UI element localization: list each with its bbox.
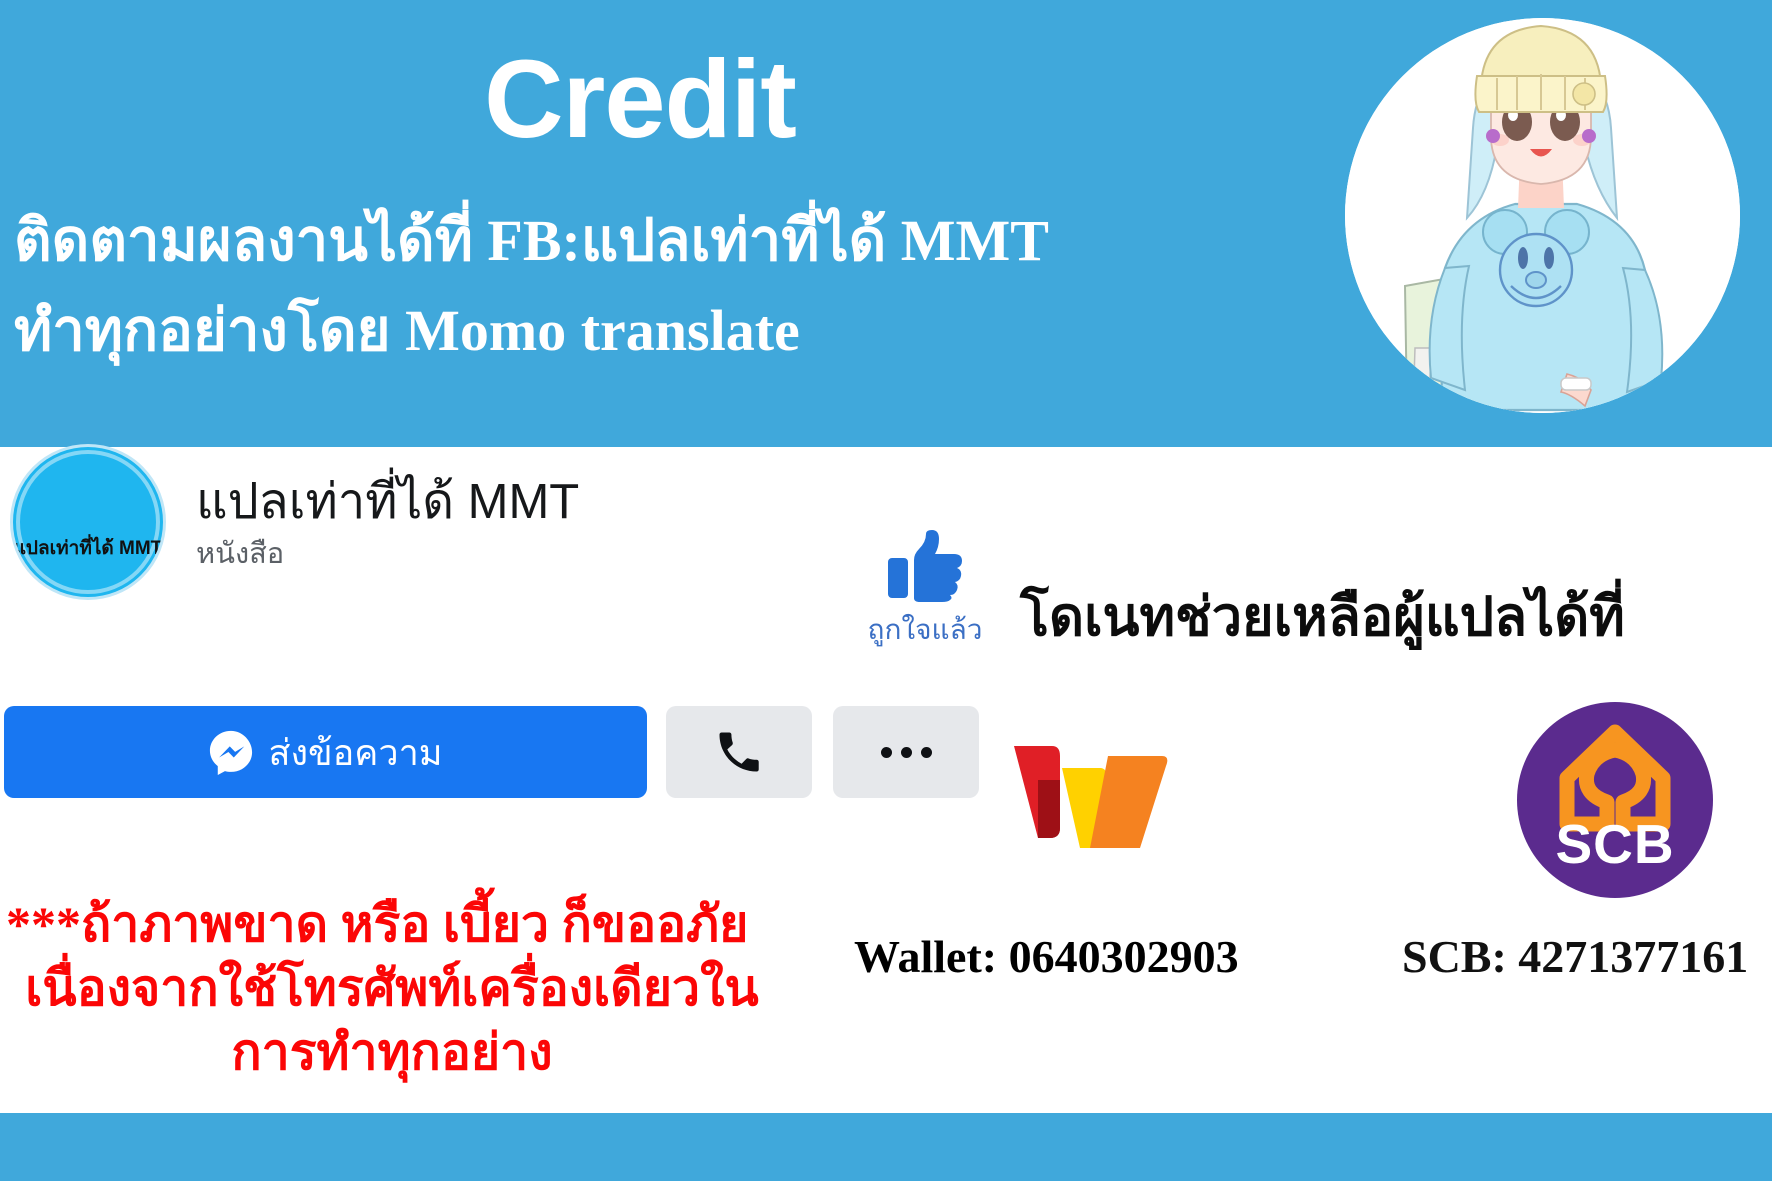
more-options-button[interactable] [833, 706, 979, 798]
avatar-illustration [1345, 18, 1740, 413]
disclaimer-line-1: ***ถ้าภาพขาด หรือ เบี้ยว ก็ขออภัย [0, 892, 784, 956]
ellipsis-icon [881, 747, 932, 758]
header-line-follow: ติดตามผลงานได้ที่ FB:แปลเท่าที่ได้ MMT [14, 196, 1194, 286]
profile-picture-ring [16, 450, 160, 594]
credit-page: Credit ติดตามผลงานได้ที่ FB:แปลเท่าที่ได… [0, 0, 1772, 1181]
wallet-account-number: Wallet: 0640302903 [854, 930, 1239, 983]
header-banner: Credit ติดตามผลงานได้ที่ FB:แปลเท่าที่ได… [0, 0, 1772, 447]
header-line-author: ทำทุกอย่างโดย Momo translate [14, 286, 1194, 376]
page-profile-picture[interactable]: แปลเท่าที่ได้ MMT [10, 444, 166, 600]
page-title: Credit [0, 42, 1280, 158]
profile-picture-label: แปลเท่าที่ได้ MMT [13, 533, 163, 563]
messenger-icon [208, 729, 254, 775]
send-message-label: ส่งข้อความ [268, 724, 442, 781]
avatar [1345, 18, 1740, 413]
scb-wordmark: SCB [1517, 812, 1713, 876]
thumbs-up-icon [886, 530, 964, 602]
scb-logo: SCB [1517, 702, 1713, 898]
send-message-button[interactable]: ส่งข้อความ [4, 706, 647, 798]
call-button[interactable] [666, 706, 812, 798]
like-status[interactable]: ถูกใจแล้ว [845, 530, 1005, 652]
header-credit-lines: ติดตามผลงานได้ที่ FB:แปลเท่าที่ได้ MMT ท… [14, 196, 1194, 376]
like-label: ถูกใจแล้ว [845, 608, 1005, 652]
page-name: แปลเท่าที่ได้ MMT [196, 462, 579, 540]
disclaimer-line-3: การทำทุกอย่าง [0, 1020, 784, 1084]
disclaimer-line-2: เนื่องจากใช้โทรศัพท์เครื่องเดียวใน [0, 956, 784, 1020]
scb-account-number: SCB: 4271377161 [1402, 930, 1748, 983]
phone-icon [713, 726, 765, 778]
page-category: หนังสือ [196, 530, 284, 576]
disclaimer-note: ***ถ้าภาพขาด หรือ เบี้ยว ก็ขออภัย เนื่อง… [0, 892, 784, 1084]
footer-bar [0, 1113, 1772, 1181]
truemoney-wallet-logo [1000, 732, 1178, 862]
donate-heading: โดเนทช่วยเหลือผู้แปลได้ที่ [1020, 573, 1625, 659]
